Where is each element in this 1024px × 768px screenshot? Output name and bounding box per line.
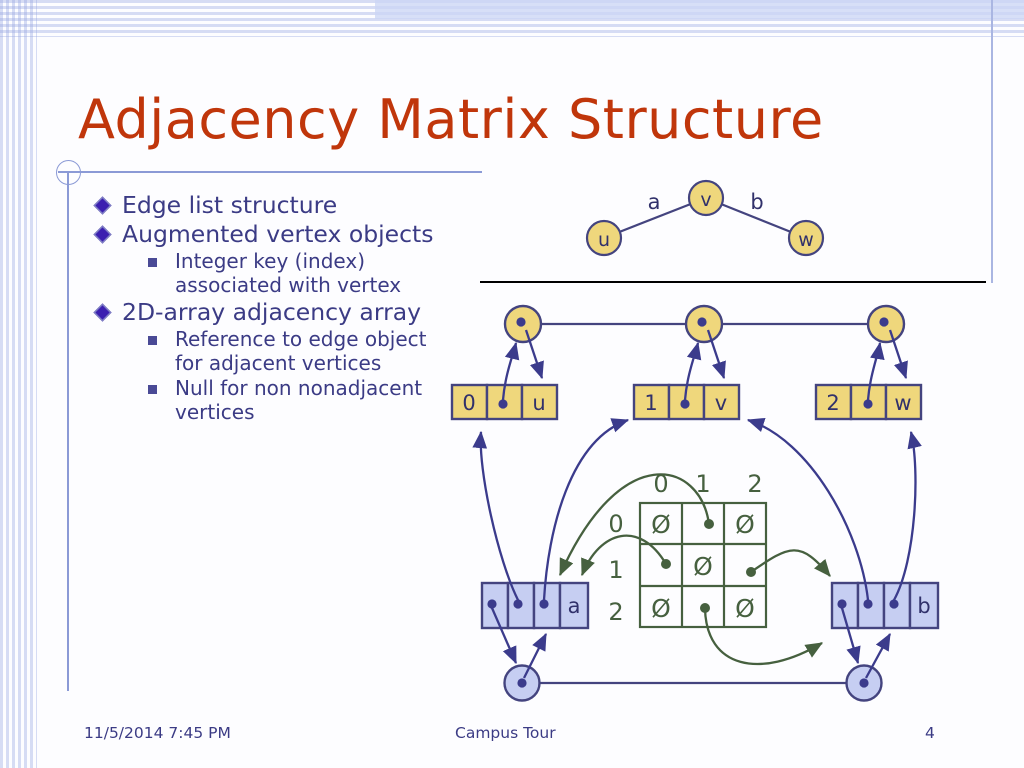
matrix-row-header-0: 0 <box>608 510 623 538</box>
matrix-cell-2-2-null: Ø <box>735 594 755 623</box>
matrix-col-header-2: 2 <box>747 470 762 498</box>
graph-vertex-u-label: u <box>598 229 610 251</box>
graph-vertex-v-label: v <box>700 189 711 211</box>
vertex-node-chain <box>505 306 904 342</box>
edge-record-a-dot-1 <box>513 599 522 608</box>
vertex-node-w-dot <box>879 317 888 326</box>
edge-record-b-dot-0 <box>837 599 846 608</box>
vertex-record-v-dot <box>680 399 689 408</box>
arrow-matrix-2-1-to-edge-b <box>705 608 822 664</box>
graph-edge-b-label: b <box>750 190 763 214</box>
vertex-record-v-name: v <box>715 391 727 415</box>
adjacency-matrix-diagram: u v w a b 0 u 1 v 2 w <box>0 0 1024 768</box>
edge-node-a-dot <box>517 678 526 687</box>
matrix-cell-2-0-null: Ø <box>651 594 671 623</box>
edge-node-b-dot <box>859 678 868 687</box>
matrix-row-header-2: 2 <box>608 598 623 626</box>
footer-page-number: 4 <box>925 724 935 742</box>
arrow-matrix-0-1-to-edge-a <box>560 474 709 575</box>
edge-record-b[interactable]: b <box>832 583 938 628</box>
vertex-record-u-dot <box>498 399 507 408</box>
vertex-record-w-index: 2 <box>826 391 839 415</box>
edge-record-b-dot-1 <box>863 599 872 608</box>
vertex-record-w-dot <box>863 399 872 408</box>
footer-title: Campus Tour <box>455 724 556 742</box>
edge-record-a-dot-2 <box>539 599 548 608</box>
arrow-edge-a-origin-to-vertex-u <box>481 432 518 600</box>
arrow-matrix-1-0-to-edge-a <box>582 536 666 575</box>
edge-record-b-dot-2 <box>889 599 898 608</box>
edge-record-a-label: a <box>568 594 581 618</box>
matrix-cell-0-2-null: Ø <box>735 510 755 539</box>
adjacency-matrix: 0 1 2 0 1 2 Ø Ø Ø Ø Ø <box>608 470 766 627</box>
vertex-record-v-index: 1 <box>644 391 657 415</box>
example-graph: u v w a b <box>587 181 823 255</box>
vertex-record-u-name: u <box>532 391 545 415</box>
matrix-cell-1-1-null: Ø <box>693 552 713 581</box>
graph-edge-a-label: a <box>648 190 661 214</box>
matrix-row-header-1: 1 <box>608 556 623 584</box>
vertex-node-u-dot <box>516 317 525 326</box>
matrix-cell-0-0-null: Ø <box>651 510 671 539</box>
vertex-record-u-index: 0 <box>462 391 475 415</box>
arrow-matrix-1-2-to-edge-b <box>751 550 830 576</box>
edge-node-chain <box>505 666 882 701</box>
graph-vertex-w-label: w <box>798 229 814 251</box>
vertex-node-v-dot <box>697 317 706 326</box>
footer-date: 11/5/2014 7:45 PM <box>84 724 231 742</box>
edge-record-a-dot-0 <box>487 599 496 608</box>
vertex-record-w-name: w <box>894 391 911 415</box>
edge-record-b-label: b <box>917 594 930 618</box>
arrow-edge-b-dest-to-vertex-w <box>894 432 915 600</box>
